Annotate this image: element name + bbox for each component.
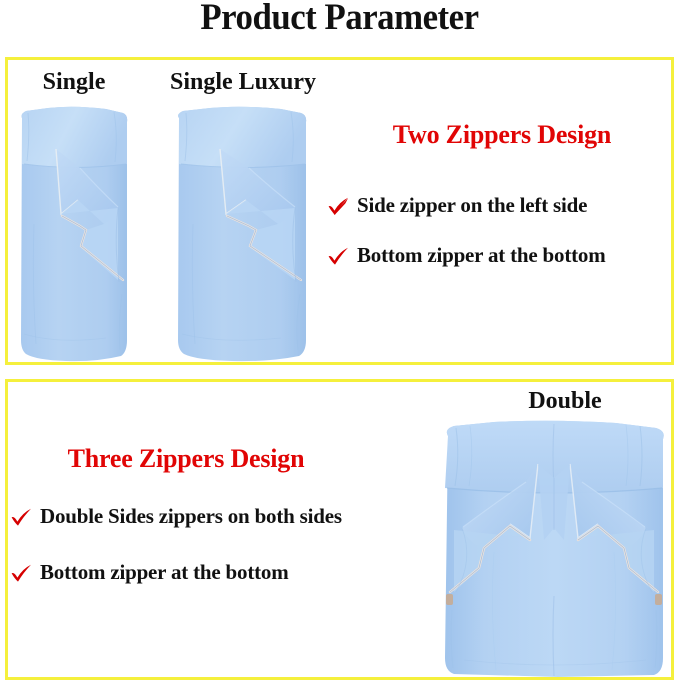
bullet-text: Side zipper on the left side bbox=[357, 193, 587, 218]
check-icon bbox=[327, 196, 350, 216]
bullet-bottom-zipper: Bottom zipper at the bottom bbox=[327, 243, 606, 268]
check-icon bbox=[10, 563, 33, 583]
heading-two-zippers-design: Two Zippers Design bbox=[344, 120, 660, 150]
bullet-text: Double Sides zippers on both sides bbox=[40, 504, 342, 529]
bullet-bottom-zipper-double: Bottom zipper at the bottom bbox=[10, 560, 289, 585]
sheet-image-single bbox=[18, 104, 131, 363]
check-icon bbox=[10, 507, 33, 527]
label-double: Double bbox=[470, 388, 660, 415]
check-icon bbox=[327, 246, 350, 266]
label-single-luxury: Single Luxury bbox=[150, 69, 336, 96]
bullet-text: Bottom zipper at the bottom bbox=[40, 560, 289, 585]
sheet-image-single-luxury bbox=[174, 104, 311, 363]
heading-three-zippers-design: Three Zippers Design bbox=[18, 444, 354, 474]
label-single: Single bbox=[18, 69, 130, 96]
bullet-side-zipper: Side zipper on the left side bbox=[327, 193, 587, 218]
bullet-text: Bottom zipper at the bottom bbox=[357, 243, 606, 268]
sheet-image-double bbox=[434, 420, 674, 678]
bullet-double-sides-zippers: Double Sides zippers on both sides bbox=[10, 504, 342, 529]
page-title: Product Parameter bbox=[20, 0, 658, 38]
product-parameter-infographic: Product Parameter Single Single Luxury bbox=[0, 0, 679, 685]
